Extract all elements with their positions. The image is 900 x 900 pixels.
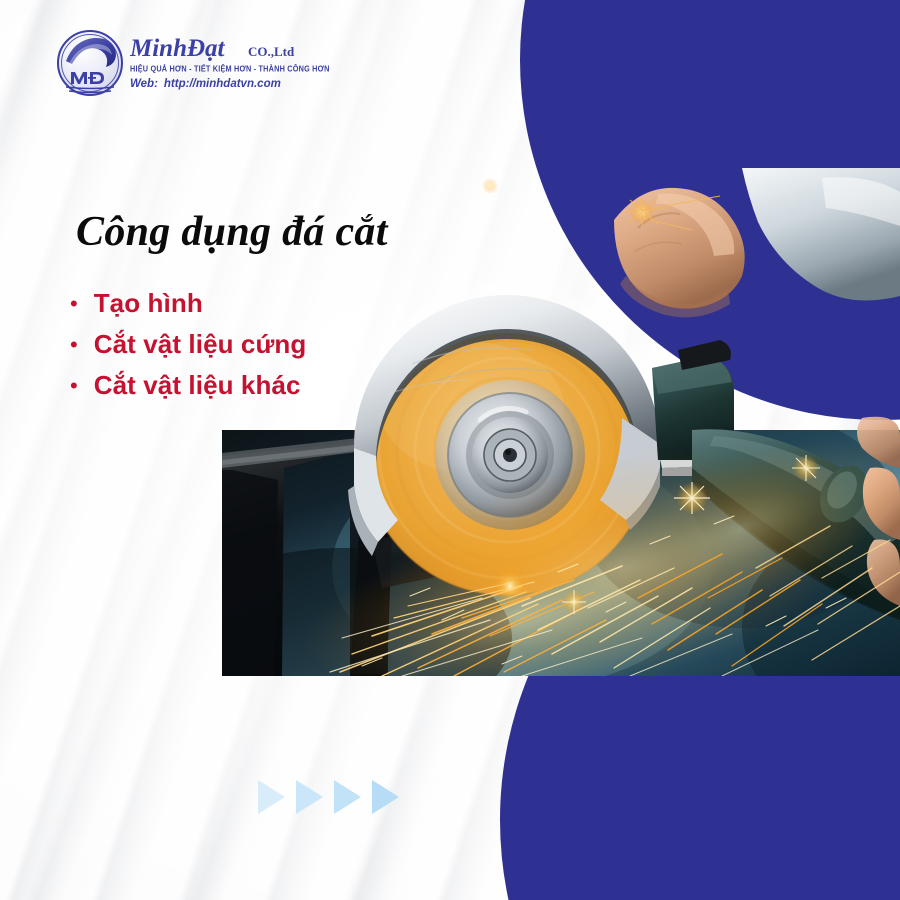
logo-website[interactable]: Web:http://minhdatvn.com [130,78,330,90]
logo-company-suffix: CO.,Ltd [248,44,295,59]
arrow-decoration-row [258,780,399,814]
list-item-label: Cắt vật liệu cứng [94,329,307,360]
logo-company-name: MinhĐạt [130,35,226,62]
play-arrow-icon-4 [372,780,399,814]
logo-slogan: HIỆU QUẢ HƠN - TIẾT KIỆM HƠN - THÀNH CÔN… [130,64,330,74]
list-item: • Cắt vật liệu cứng [70,329,306,360]
list-item-label: Cắt vật liệu khác [94,370,301,401]
minh-dat-circular-emblem-icon [56,28,124,98]
logo-text-column: MinhĐạt CO.,Ltd HIỆU QUẢ HƠN - TIẾT KIỆM… [130,28,330,90]
poster-canvas: MinhĐạt CO.,Ltd HIỆU QUẢ HƠN - TIẾT KIỆM… [0,0,900,900]
list-item: • Tạo hình [70,288,306,319]
minh-dat-wordmark-icon: MinhĐạt CO.,Ltd [130,31,322,63]
benefits-list: • Tạo hình • Cắt vật liệu cứng • Cắt vật… [70,288,306,411]
play-arrow-icon-1 [258,780,285,814]
bullet-marker-icon: • [70,334,78,356]
list-item-label: Tạo hình [94,288,203,319]
bullet-marker-icon: • [70,375,78,397]
company-logo[interactable]: MinhĐạt CO.,Ltd HIỆU QUẢ HƠN - TIẾT KIỆM… [56,28,330,98]
list-item: • Cắt vật liệu khác [70,370,306,401]
bullet-marker-icon: • [70,293,78,315]
page-title: Công dụng đá cắt [76,208,388,256]
play-arrow-icon-3 [334,780,361,814]
logo-website-label: Web: [130,78,158,90]
play-arrow-icon-2 [296,780,323,814]
logo-website-url[interactable]: http://minhdatvn.com [164,78,281,90]
